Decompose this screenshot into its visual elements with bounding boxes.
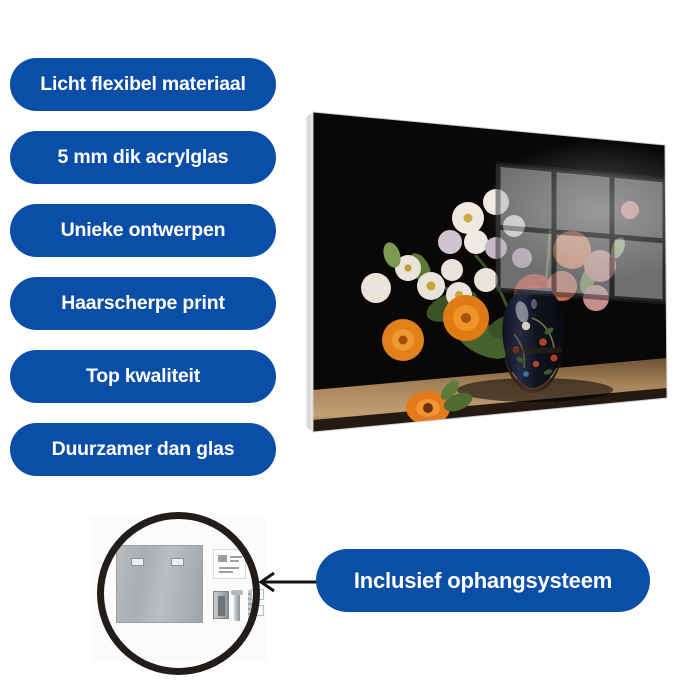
feature-pill[interactable]: Licht flexibel materiaal bbox=[10, 58, 276, 111]
promo-graphic: Licht flexibel materiaal 5 mm dik acrylg… bbox=[0, 0, 700, 700]
feature-label: Unieke ontwerpen bbox=[61, 221, 226, 241]
feature-pill[interactable]: Haarscherpe print bbox=[10, 277, 276, 330]
panel-svg bbox=[300, 90, 690, 450]
acrylic-panel-render bbox=[300, 90, 690, 450]
feature-pill[interactable]: Top kwaliteit bbox=[10, 350, 276, 403]
hanging-system-badge[interactable]: Inclusief ophangsysteem bbox=[316, 549, 650, 612]
hanging-kit-inset bbox=[97, 512, 260, 675]
feature-label: Duurzamer dan glas bbox=[52, 440, 235, 460]
feature-label: Top kwaliteit bbox=[86, 367, 200, 387]
feature-label: 5 mm dik acrylglas bbox=[58, 148, 229, 168]
feature-pill[interactable]: 5 mm dik acrylglas bbox=[10, 131, 276, 184]
feature-label: Licht flexibel materiaal bbox=[40, 75, 245, 95]
panel-left-edge bbox=[305, 112, 313, 432]
inset-ring bbox=[97, 512, 260, 675]
feature-list: Licht flexibel materiaal 5 mm dik acrylg… bbox=[10, 58, 278, 496]
hanging-system-label: Inclusief ophangsysteem bbox=[354, 570, 612, 592]
feature-pill[interactable]: Duurzamer dan glas bbox=[10, 423, 276, 476]
feature-pill[interactable]: Unieke ontwerpen bbox=[10, 204, 276, 257]
feature-label: Haarscherpe print bbox=[61, 294, 225, 314]
panel-face bbox=[300, 90, 690, 450]
